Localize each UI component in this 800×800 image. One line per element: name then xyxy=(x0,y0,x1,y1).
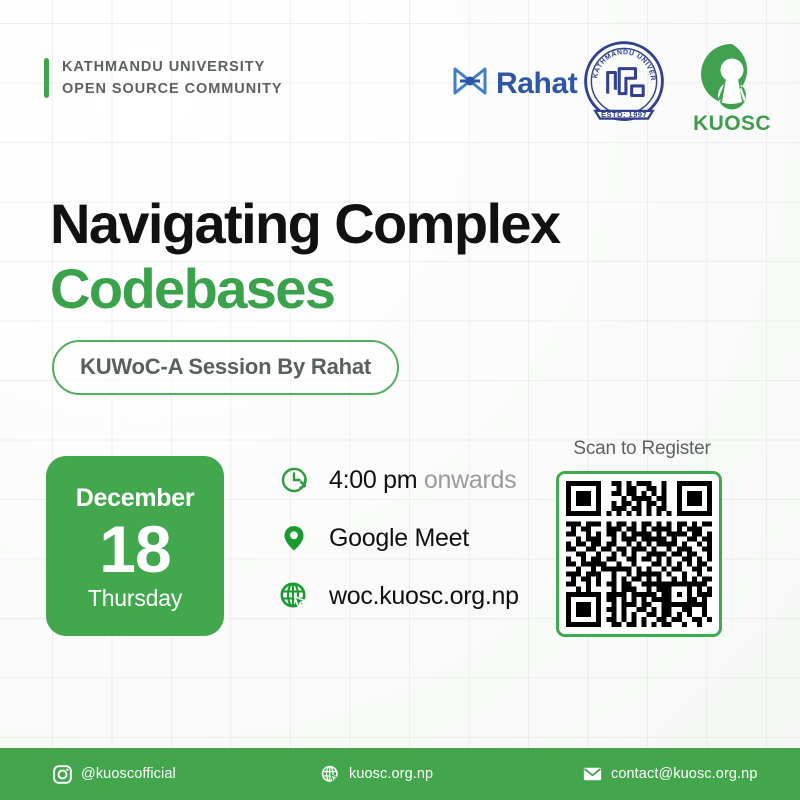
svg-text:ESTD: 1997: ESTD: 1997 xyxy=(601,110,647,119)
rahat-wordmark: Rahat xyxy=(496,67,577,101)
detail-time-text: 4:00 pm onwards xyxy=(329,466,516,495)
footer-instagram-handle: @kuoscofficial xyxy=(81,766,176,782)
date-weekday: Thursday xyxy=(88,585,182,612)
footer-instagram[interactable]: @kuoscofficial xyxy=(52,764,176,784)
clock-icon xyxy=(278,464,310,496)
detail-row-time: 4:00 pm onwards xyxy=(278,462,519,498)
footer-email[interactable]: contact@kuosc.org.np xyxy=(582,764,758,784)
qr-section: Scan to Register xyxy=(556,438,728,637)
detail-time-suffix: onwards xyxy=(424,466,516,494)
poster-footer: @kuoscofficial kuosc.org.np contact@ xyxy=(0,748,800,800)
poster-header: KATHMANDU UNIVERSITY OPEN SOURCE COMMUNI… xyxy=(0,0,800,150)
qr-code[interactable] xyxy=(556,471,722,637)
organization-line-1: KATHMANDU UNIVERSITY xyxy=(62,58,283,76)
kucc-seal-logo: KATHMANDU UNIVERSITY COMPUTER CLUB ESTD:… xyxy=(576,36,672,132)
footer-website[interactable]: kuosc.org.np xyxy=(320,764,433,784)
globe-cursor-icon xyxy=(278,580,310,612)
open-source-keyhole-icon xyxy=(696,40,768,115)
detail-time-value: 4:00 pm xyxy=(329,466,417,494)
date-day: 18 xyxy=(99,515,170,584)
envelope-icon xyxy=(582,764,602,784)
accent-bar xyxy=(44,58,49,98)
detail-row-location: Google Meet xyxy=(278,520,519,556)
location-pin-icon xyxy=(278,522,310,554)
footer-email-address: contact@kuosc.org.np xyxy=(611,766,758,782)
detail-website-value: woc.kuosc.org.np xyxy=(329,582,519,611)
session-subtitle-badge: KUWoC-A Session By Rahat xyxy=(52,340,399,395)
event-date-card: December 18 Thursday xyxy=(46,456,224,636)
detail-row-website: woc.kuosc.org.np xyxy=(278,578,519,614)
poster-title: Navigating Complex Codebases xyxy=(50,192,560,322)
qr-caption: Scan to Register xyxy=(556,438,728,460)
title-line-2: Codebases xyxy=(50,257,560,322)
rahat-mark-icon xyxy=(452,66,488,101)
date-month: December xyxy=(76,484,195,513)
organization-identity: KATHMANDU UNIVERSITY OPEN SOURCE COMMUNI… xyxy=(44,58,283,98)
instagram-icon xyxy=(52,764,72,784)
globe-cursor-icon xyxy=(320,764,340,784)
rahat-logo: Rahat xyxy=(452,66,577,101)
kuosc-wordmark: KUOSC xyxy=(693,112,771,136)
event-details-list: 4:00 pm onwards Google Meet woc.kuos xyxy=(278,462,519,614)
event-poster: KATHMANDU UNIVERSITY OPEN SOURCE COMMUNI… xyxy=(0,0,800,800)
title-line-1: Navigating Complex xyxy=(50,192,560,257)
session-subtitle-text: KUWoC-A Session By Rahat xyxy=(80,354,371,379)
kuosc-logo: KUOSC xyxy=(688,40,776,136)
detail-location-value: Google Meet xyxy=(329,524,469,553)
organization-name: KATHMANDU UNIVERSITY OPEN SOURCE COMMUNI… xyxy=(62,58,283,98)
organization-line-2: OPEN SOURCE COMMUNITY xyxy=(62,80,283,98)
footer-website-url: kuosc.org.np xyxy=(349,766,433,782)
